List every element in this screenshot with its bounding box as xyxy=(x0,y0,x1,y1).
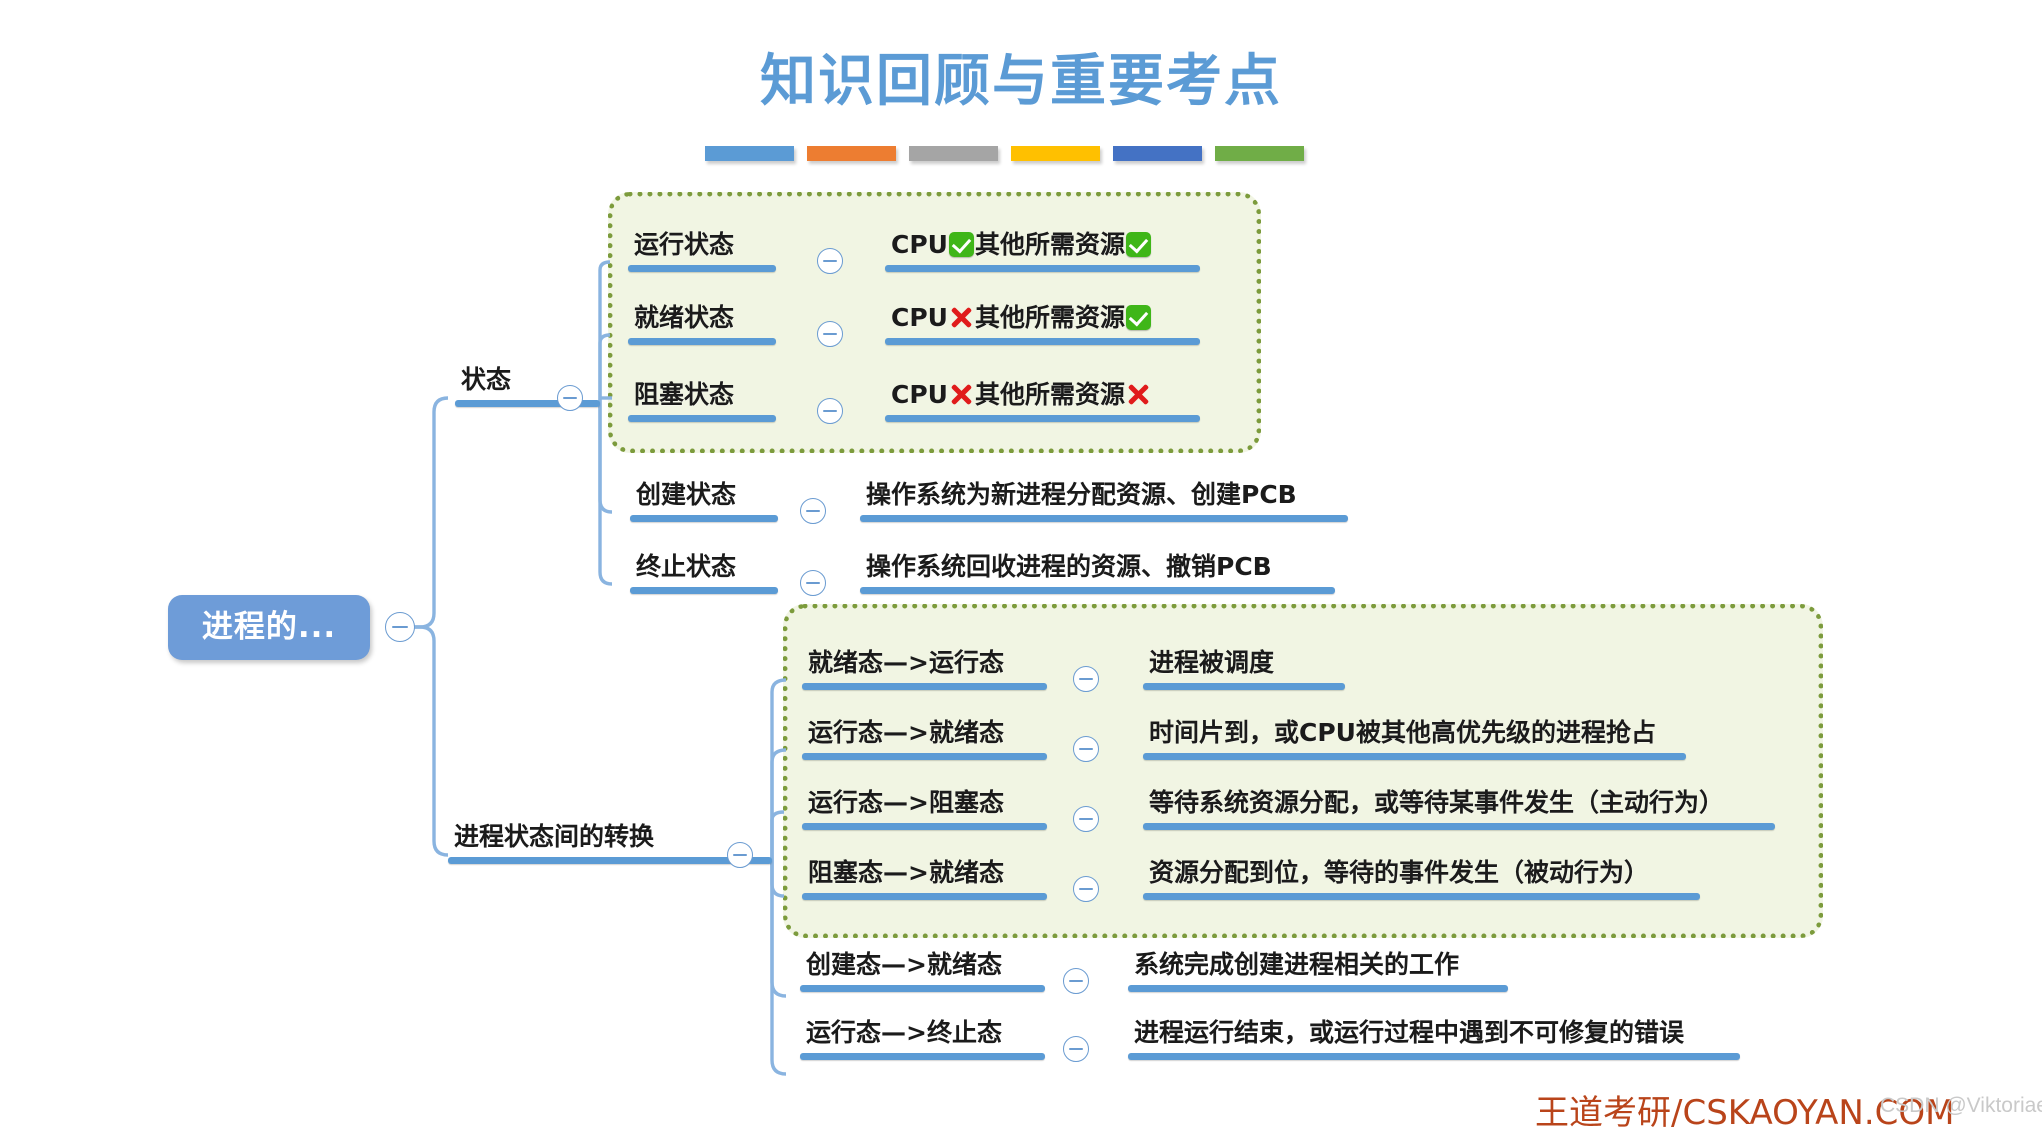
state-node-ready[interactable]: 就绪状态 xyxy=(628,301,776,345)
state-detail-terminated[interactable]: 操作系统回收进程的资源、撤销PCB xyxy=(860,550,1335,594)
state-detail-running[interactable]: CPU其他所需资源 xyxy=(885,228,1200,272)
state-node-ready-label: 就绪状态 xyxy=(628,301,776,338)
transition-node-running-to-ready-label: 运行态—>就绪态 xyxy=(802,716,1047,753)
branch-transition-underline xyxy=(448,857,772,864)
transition-detail-created-to-ready-label: 系统完成创建进程相关的工作 xyxy=(1128,948,1508,985)
transition-detail-blocked-to-ready-underline xyxy=(1143,893,1700,900)
state-node-blocked-label: 阻塞状态 xyxy=(628,378,776,415)
state-detail-blocked-underline xyxy=(885,415,1200,422)
state-detail-blocked[interactable]: CPU其他所需资源 xyxy=(885,378,1200,422)
state-node-running-label: 运行状态 xyxy=(628,228,776,265)
check-icon xyxy=(949,232,974,257)
transition-node-ready-to-running[interactable]: 就绪态—>运行态 xyxy=(802,646,1047,690)
state-node-created-collapse-icon[interactable] xyxy=(800,498,826,524)
transition-node-running-to-blocked-label: 运行态—>阻塞态 xyxy=(802,786,1047,823)
root-node[interactable]: 进程的... xyxy=(168,595,370,660)
transition-node-running-to-terminated-collapse-icon[interactable] xyxy=(1063,1036,1089,1062)
transition-detail-running-to-terminated[interactable]: 进程运行结束，或运行过程中遇到不可修复的错误 xyxy=(1128,1016,1740,1060)
check-icon xyxy=(1126,232,1151,257)
branch-transition[interactable]: 进程状态间的转换 xyxy=(448,820,772,864)
cross-icon xyxy=(1126,382,1151,407)
state-detail-ready-underline xyxy=(885,338,1200,345)
transition-node-running-to-blocked-underline xyxy=(802,823,1047,830)
transition-node-blocked-to-ready-underline xyxy=(802,893,1047,900)
transition-node-blocked-to-ready[interactable]: 阻塞态—>就绪态 xyxy=(802,856,1047,900)
state-node-running[interactable]: 运行状态 xyxy=(628,228,776,272)
state-detail-ready-label: CPU其他所需资源 xyxy=(885,301,1200,338)
state-detail-terminated-label: 操作系统回收进程的资源、撤销PCB xyxy=(860,550,1335,587)
state-node-created-underline xyxy=(630,515,778,522)
transition-node-running-to-terminated-label: 运行态—>终止态 xyxy=(800,1016,1045,1053)
transition-node-ready-to-running-label: 就绪态—>运行态 xyxy=(802,646,1047,683)
state-node-blocked-underline xyxy=(628,415,776,422)
state-node-ready-underline xyxy=(628,338,776,345)
state-node-running-underline xyxy=(628,265,776,272)
state-node-created[interactable]: 创建状态 xyxy=(630,478,778,522)
transition-detail-blocked-to-ready[interactable]: 资源分配到位，等待的事件发生（被动行为） xyxy=(1143,856,1700,900)
branch-transition-collapse-icon[interactable] xyxy=(727,842,753,868)
transition-detail-ready-to-running-label: 进程被调度 xyxy=(1143,646,1345,683)
transition-detail-running-to-ready[interactable]: 时间片到，或CPU被其他高优先级的进程抢占 xyxy=(1143,716,1686,760)
transition-node-created-to-ready-underline xyxy=(800,985,1045,992)
state-node-blocked[interactable]: 阻塞状态 xyxy=(628,378,776,422)
state-node-terminated-label: 终止状态 xyxy=(630,550,778,587)
state-node-terminated[interactable]: 终止状态 xyxy=(630,550,778,594)
csdn-watermark: CSDN @Viktoriae xyxy=(1880,1094,2042,1118)
mindmap-canvas: 知识回顾与重要考点 进 xyxy=(0,0,2042,1140)
transition-node-blocked-to-ready-collapse-icon[interactable] xyxy=(1073,876,1099,902)
transition-node-ready-to-running-underline xyxy=(802,683,1047,690)
transition-detail-created-to-ready-underline xyxy=(1128,985,1508,992)
transition-node-running-to-ready-collapse-icon[interactable] xyxy=(1073,736,1099,762)
cross-icon xyxy=(949,305,974,330)
state-detail-terminated-underline xyxy=(860,587,1335,594)
transition-node-running-to-blocked[interactable]: 运行态—>阻塞态 xyxy=(802,786,1047,830)
transition-node-created-to-ready[interactable]: 创建态—>就绪态 xyxy=(800,948,1045,992)
transition-node-running-to-ready-underline xyxy=(802,753,1047,760)
transition-node-running-to-terminated-underline xyxy=(800,1053,1045,1060)
state-detail-running-label: CPU其他所需资源 xyxy=(885,228,1200,265)
transition-node-created-to-ready-collapse-icon[interactable] xyxy=(1063,968,1089,994)
transition-detail-running-to-terminated-label: 进程运行结束，或运行过程中遇到不可修复的错误 xyxy=(1128,1016,1740,1053)
state-detail-created[interactable]: 操作系统为新进程分配资源、创建PCB xyxy=(860,478,1348,522)
state-detail-created-label: 操作系统为新进程分配资源、创建PCB xyxy=(860,478,1348,515)
state-node-blocked-collapse-icon[interactable] xyxy=(817,398,843,424)
transition-detail-running-to-terminated-underline xyxy=(1128,1053,1740,1060)
check-icon xyxy=(1126,305,1151,330)
transition-detail-running-to-ready-label: 时间片到，或CPU被其他高优先级的进程抢占 xyxy=(1143,716,1686,753)
transition-detail-running-to-blocked[interactable]: 等待系统资源分配，或等待某事件发生（主动行为） xyxy=(1143,786,1775,830)
cross-icon xyxy=(949,382,974,407)
transition-node-ready-to-running-collapse-icon[interactable] xyxy=(1073,666,1099,692)
transition-detail-ready-to-running[interactable]: 进程被调度 xyxy=(1143,646,1345,690)
transition-detail-running-to-ready-underline xyxy=(1143,753,1686,760)
transition-detail-running-to-blocked-label: 等待系统资源分配，或等待某事件发生（主动行为） xyxy=(1143,786,1775,823)
state-detail-blocked-label: CPU其他所需资源 xyxy=(885,378,1200,415)
state-detail-running-underline xyxy=(885,265,1200,272)
transition-node-blocked-to-ready-label: 阻塞态—>就绪态 xyxy=(802,856,1047,893)
transition-detail-running-to-blocked-underline xyxy=(1143,823,1775,830)
transition-detail-created-to-ready[interactable]: 系统完成创建进程相关的工作 xyxy=(1128,948,1508,992)
transition-detail-ready-to-running-underline xyxy=(1143,683,1345,690)
branch-state-collapse-icon[interactable] xyxy=(557,385,583,411)
state-detail-created-underline xyxy=(860,515,1348,522)
state-node-running-collapse-icon[interactable] xyxy=(817,248,843,274)
state-node-ready-collapse-icon[interactable] xyxy=(817,321,843,347)
transition-detail-blocked-to-ready-label: 资源分配到位，等待的事件发生（被动行为） xyxy=(1143,856,1700,893)
branch-transition-label: 进程状态间的转换 xyxy=(448,820,772,857)
transition-node-running-to-terminated[interactable]: 运行态—>终止态 xyxy=(800,1016,1045,1060)
transition-node-running-to-blocked-collapse-icon[interactable] xyxy=(1073,806,1099,832)
transition-node-running-to-ready[interactable]: 运行态—>就绪态 xyxy=(802,716,1047,760)
root-node-label: 进程的... xyxy=(168,595,370,660)
root-collapse-toggle-icon[interactable] xyxy=(385,612,415,642)
state-node-created-label: 创建状态 xyxy=(630,478,778,515)
state-node-terminated-collapse-icon[interactable] xyxy=(800,570,826,596)
state-node-terminated-underline xyxy=(630,587,778,594)
transition-node-created-to-ready-label: 创建态—>就绪态 xyxy=(800,948,1045,985)
state-detail-ready[interactable]: CPU其他所需资源 xyxy=(885,301,1200,345)
